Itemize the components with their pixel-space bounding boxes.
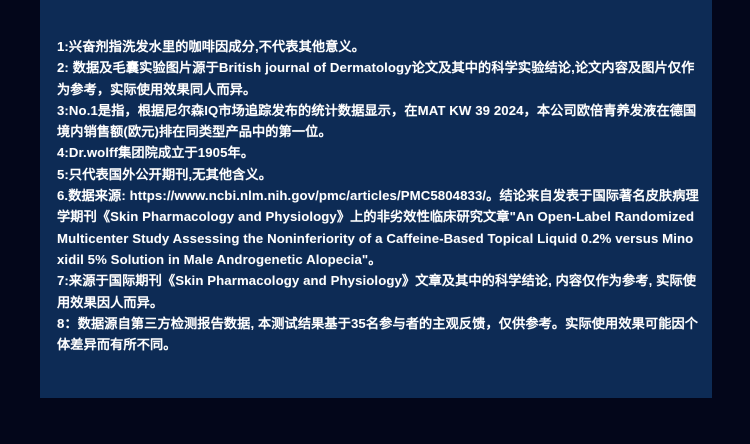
disclaimer-note-4: 4:Dr.wolff集团院成立于1905年。 — [57, 142, 700, 163]
disclaimer-note-2: 2: 数据及毛囊实验图片源于British journal of Dermato… — [57, 57, 700, 100]
disclaimer-panel: 1:兴奋剂指洗发水里的咖啡因成分,不代表其他意义。 2: 数据及毛囊实验图片源于… — [40, 0, 712, 398]
disclaimer-content: 1:兴奋剂指洗发水里的咖啡因成分,不代表其他意义。 2: 数据及毛囊实验图片源于… — [57, 36, 700, 355]
page-root: 1:兴奋剂指洗发水里的咖啡因成分,不代表其他意义。 2: 数据及毛囊实验图片源于… — [0, 0, 750, 444]
disclaimer-note-6: 6.数据来源: https://www.ncbi.nlm.nih.gov/pmc… — [57, 185, 700, 270]
disclaimer-note-3: 3:No.1是指，根据尼尔森IQ市场追踪发布的统计数据显示，在MAT KW 39… — [57, 100, 700, 143]
disclaimer-note-5: 5:只代表国外公开期刊,无其他含义。 — [57, 164, 700, 185]
disclaimer-note-list: 1:兴奋剂指洗发水里的咖啡因成分,不代表其他意义。 2: 数据及毛囊实验图片源于… — [57, 36, 700, 355]
disclaimer-note-7: 7:来源于国际期刊《Skin Pharmacology and Physiolo… — [57, 270, 700, 313]
disclaimer-note-8: 8：数据源自第三方检测报告数据, 本测试结果基于35名参与者的主观反馈，仅供参考… — [57, 313, 700, 356]
disclaimer-note-1: 1:兴奋剂指洗发水里的咖啡因成分,不代表其他意义。 — [57, 36, 700, 57]
